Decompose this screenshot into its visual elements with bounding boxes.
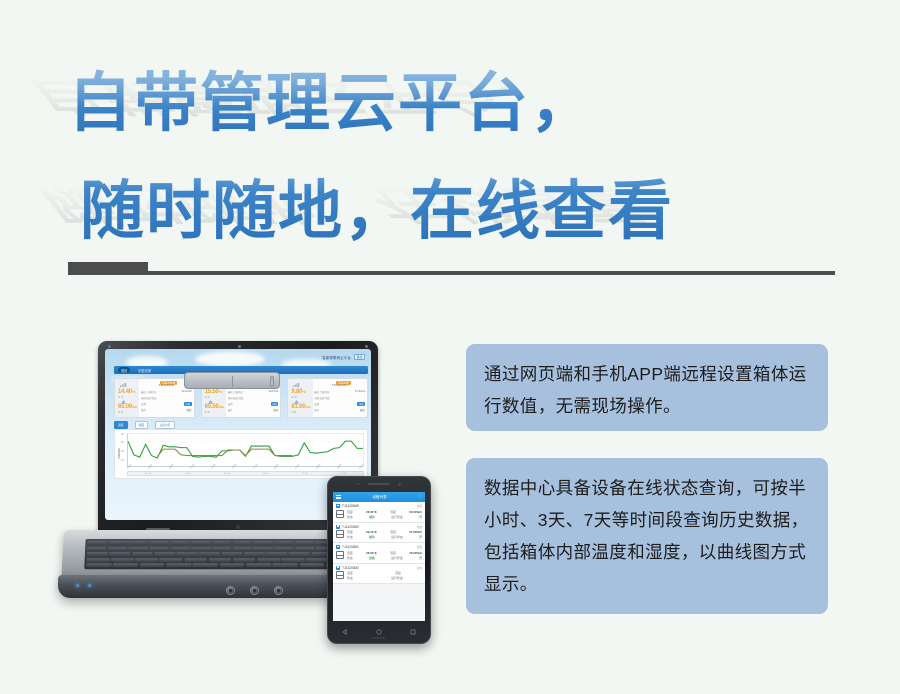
keyboard-key[interactable] [289,552,310,556]
keyboard-key[interactable] [222,552,243,556]
keyboard-key[interactable] [193,563,218,567]
cabinet-icon [336,510,344,518]
device-status: 在线 [417,566,422,570]
lid-screw-left [108,345,111,348]
more-icon[interactable]: ⋮ [418,495,422,499]
mic-port [250,586,259,595]
hum-label: 湿度 [390,530,396,534]
card-temp-subrow: ☑ ℃ [291,396,297,399]
range-selector[interactable]: 最近3天 [155,421,175,429]
chart-y-axis-label: 温度/湿度 [116,448,120,458]
keyboard-key[interactable] [274,541,293,545]
laptop-touchpad[interactable] [184,372,280,389]
card-kv-row: 当前温度/湿度 [314,396,365,400]
app-title: 设备列表 [341,495,418,500]
phone-brand-label: HUAWEI [328,636,430,640]
keyboard-key[interactable] [170,546,189,550]
keyboard-key[interactable] [109,552,130,556]
state-value: 制冷 [369,535,375,539]
keyboard-key[interactable] [113,563,138,567]
device-id: TJ14203M1 [342,545,415,549]
temp-value: 26.00℃ [366,551,377,555]
signal-bars-icon [293,383,300,387]
hum-unit: %rh [305,405,310,409]
value-row: 温度26.00℃湿度79.00%rh [347,551,422,555]
y-tick: 30 [121,441,124,444]
keyboard-key[interactable] [219,563,244,567]
headline-block: 自带管理云平台， 自带管理云平台， 随时随地，在线查看 随时随地，在线查看 [0,0,900,250]
nav-tab-home[interactable]: 首页 [118,367,130,373]
action-value: 开 [419,515,422,519]
action-label: 运行状态 [391,535,403,539]
state-value: 制冷 [369,515,375,519]
temp-unit: ℃ [132,390,135,394]
value-row: 状态制冷运行状态开 [347,535,422,539]
temp-number: 14.40 [118,389,132,395]
keyboard-key[interactable] [108,541,127,545]
detail-button[interactable]: 详情 [271,402,279,406]
hum-number: 65.00 [118,404,132,410]
keyboard-key[interactable] [160,558,183,562]
signal-bars-icon [120,383,127,387]
kv-key: 操作 [228,408,233,412]
chart-plot-area [127,433,364,467]
action-value: 开 [419,535,422,539]
kv-key: 设置 [228,402,233,406]
cabinet-icon [336,551,344,559]
keyboard-key[interactable] [244,552,265,556]
earpiece-speaker [368,483,390,486]
keyboard-key[interactable] [154,552,175,556]
value-row: 状态运行状态 [347,576,422,580]
lid-screw-right [365,345,368,348]
recents-icon[interactable] [410,629,416,635]
kv-key: 操作 [141,408,146,412]
kv-key: 最近上报时间 [314,390,329,394]
keyboard-key[interactable] [274,546,293,550]
card-kv-row: 最近上报时间20/Jul/26 [141,390,192,394]
keyboard-key[interactable] [149,546,168,550]
filter-temperature[interactable]: 温度 [114,421,128,429]
keyboard-key[interactable] [191,546,210,550]
nav-tab-history[interactable]: 历史记录 [135,367,154,373]
keyboard-key[interactable] [199,552,220,556]
site-title: 智能物联网云平台 [322,355,351,360]
kv-key: 当前温度/湿度 [314,396,330,400]
card-temperature: 14.40℃ [118,389,135,395]
device-card[interactable]: 设备在线 9.80℃ ☑ ℃ 81.00%rh ☑ % TJ1420JAH 最近… [287,378,368,418]
keyboard-key[interactable] [132,552,153,556]
list-item[interactable]: TJ14203M0在线温度29.10℃湿度57.00%rh状态制冷运行状态开 [333,523,425,544]
kv-value: 02/27/24 [269,390,279,394]
keyboard-key[interactable] [86,563,111,567]
phone-screen: 设备列表 ⋮ TJ14203M9在线温度26.00℃湿度52.00%rh状态制冷… [333,492,425,621]
info-box-remote-setting: 通过网页端和手机APP端远程设置箱体运行数值，无需现场操作。 [466,344,828,431]
keyboard-key[interactable] [87,552,108,556]
temp-label: 温度 [347,551,353,555]
card-temperature: 9.80℃ [291,389,305,395]
keyboard-key[interactable] [233,546,252,550]
activity-led [88,584,91,587]
device-flag-icon [336,525,340,529]
delete-button[interactable]: 删除 [187,408,192,412]
keyboard-key[interactable] [129,546,148,550]
temp-value: 26.00℃ [366,510,377,514]
temp-number: 15.50 [205,389,219,395]
divider [0,262,900,282]
keyboard-key[interactable] [177,552,198,556]
card-kv-row: 设置详情 [314,402,365,406]
kv-key: 操作 [314,408,319,412]
keyboard-key[interactable] [281,558,304,562]
hum-unit: %rh [132,405,137,409]
kv-key: 设置 [141,402,146,406]
y-tick: 10 [121,459,124,462]
site-header: 智能物联网云平台 退出 [105,349,371,365]
hum-number: 81.00 [291,404,305,410]
card-right-column: TJ1420JAH 最近上报时间27/Jul/14 当前温度/湿度 设置详情 操… [314,383,365,414]
card-kv-row: 操作删除 [314,408,365,412]
phone-illustration: 设备列表 ⋮ TJ14203M9在线温度26.00℃湿度52.00%rh状态制冷… [327,476,431,644]
action-label: 运行状态 [391,515,403,519]
card-humidity: 65.00%rh [118,404,137,410]
keyboard-key[interactable] [191,541,210,545]
logout-button[interactable]: 退出 [354,354,365,360]
kv-key: 设置 [314,402,319,406]
keyboard-key[interactable] [87,558,110,562]
y-tick: 20 [121,450,124,453]
chart-scroll-label: 5 Jul [185,473,190,475]
keyboard-key[interactable] [266,552,287,556]
y-tick: 40 [121,433,124,436]
keyboard-key[interactable] [184,558,207,562]
card-temp-subrow: ☑ ℃ [118,396,124,399]
keyboard-key[interactable] [140,563,165,567]
keyboard-key[interactable] [253,541,272,545]
hum-value: 79.00%rh [409,551,422,555]
value-row: 温度湿度 [347,571,422,575]
app-title-bar: 设备列表 ⋮ [333,492,425,502]
keyboard-key[interactable] [87,541,106,545]
keyboard-key[interactable] [273,563,298,567]
keyboard-key[interactable] [212,546,231,550]
hum-label: 湿度 [395,571,401,575]
headline-line2-text: 随时随地，在线查看 [80,160,674,252]
home-icon[interactable] [376,629,382,635]
device-list: TJ14203M9在线温度26.00℃湿度52.00%rh状态制冷运行状态开TJ… [333,502,425,584]
keyboard-key[interactable] [212,541,231,545]
kv-key: 当前温度/湿度 [228,396,244,400]
keyboard-key[interactable] [166,563,191,567]
keyboard-key[interactable] [150,541,169,545]
list-item[interactable]: TJ14203M2在线温度湿度状态运行状态 [333,564,425,585]
keyboard-key[interactable] [129,541,148,545]
chart-series-湿度 [157,449,292,456]
value-row: 状态加热运行状态开 [347,556,422,560]
keyboard-key[interactable] [295,546,314,550]
chart-scroll-strip[interactable]: 27 Jun5 Jul13 Jul6 Jul17 Jul9 Jul [127,471,364,476]
headline-line2: 随时随地，在线查看 [80,160,674,252]
state-value: 加热 [369,556,375,560]
keyboard-key[interactable] [170,541,189,545]
action-label: 运行状态 [391,556,403,560]
state-label: 状态 [347,515,353,519]
hum-unit: %rh [219,405,224,409]
chart-scroll-label: 27 Jun [145,473,152,475]
state-label: 状态 [347,556,353,560]
card-kv-row: 当前温度/湿度 [228,396,279,400]
state-label: 状态 [347,535,353,539]
keyboard-key[interactable] [135,558,158,562]
delete-button[interactable]: 删除 [360,408,365,412]
audio-port [226,586,235,595]
keyboard-key[interactable] [253,546,272,550]
hum-label: 湿度 [390,551,396,555]
power-led [76,584,79,587]
device-id: TJ14203M9 [342,504,415,508]
fingerprint-reader[interactable] [270,376,274,387]
kv-value: 27/Jul/14 [355,390,365,394]
touchpad-divider [232,376,233,387]
card-temperature: 15.50℃ [205,389,222,395]
keyboard-key[interactable] [208,558,231,562]
info-box-data-center: 数据中心具备设备在线状态查询，可按半小时、3天、7天等时间段查询历史数据，包括箱… [466,458,828,614]
device-status: 在线 [417,525,422,529]
history-chart-panel: 温度/湿度 40 30 20 10 03:0006:0009:0012:0015… [114,429,368,479]
device-flag-icon [336,504,340,508]
device-flag-icon [336,545,340,549]
card-hum-subrow: ☑ % [291,411,296,414]
card-device-name: TJ1420JAH [314,383,365,387]
keyboard-key[interactable] [108,546,127,550]
lid-indicator-dot [236,525,240,529]
back-icon[interactable] [342,629,348,635]
front-camera-icon [398,483,401,486]
cabinet-icon [336,530,344,538]
temp-number: 9.80 [291,389,302,395]
hum-label: 湿度 [390,510,396,514]
card-humidity: 81.00%rh [291,404,310,410]
chart-filter-row: 温度 湿度 最近3天 [114,421,175,429]
action-value: 开 [419,556,422,560]
headline-line1: 自带管理云平台， [68,52,596,144]
state-label: 状态 [347,576,353,580]
cabinet-icon [336,571,344,579]
kv-key: 最近上报时间 [141,390,156,394]
device-card[interactable]: 设备不在线 14.40℃ ☑ ℃ 65.00%rh ☑ % TJ1420JAG … [114,378,195,418]
detail-button[interactable]: 详情 [357,402,365,406]
keyboard-key[interactable] [233,558,256,562]
hum-number: 65.00 [205,404,219,410]
card-kv-row: 当前温度/湿度 [141,396,192,400]
hum-value: 52.00%rh [409,510,422,514]
temp-value: 29.10℃ [366,530,377,534]
temp-unit: ℃ [302,390,305,394]
value-row: 温度29.10℃湿度57.00%rh [347,530,422,534]
delete-button[interactable]: 删除 [273,408,278,412]
device-status: 在线 [417,504,422,508]
card-kv-row: 设置详情 [141,402,192,406]
proximity-sensor-icon [357,483,359,485]
keyboard-key[interactable] [233,541,252,545]
temp-unit: ℃ [219,390,222,394]
card-kv-row: 操作删除 [228,408,279,412]
detail-button[interactable]: 详情 [184,402,192,406]
chart-scroll-label: 13 Jul [224,473,230,475]
card-temp-subrow: ☑ ℃ [205,396,211,399]
value-row: 状态制冷运行状态开 [347,515,422,519]
card-kv-row: 最近上报时间02/27/24 [228,390,279,394]
device-id: TJ14203M0 [342,525,415,529]
chart-svg [128,434,363,466]
temp-label: 温度 [347,571,353,575]
keyboard-key[interactable] [87,546,106,550]
divider-thin-line [148,271,835,275]
hum-value: 57.00%rh [409,530,422,534]
keyboard-key[interactable] [246,563,271,567]
card-humidity: 65.00%rh [205,404,224,410]
list-item[interactable]: TJ14203M1在线温度26.00℃湿度79.00%rh状态加热运行状态开 [333,543,425,564]
lid-screw-center [238,345,241,348]
temp-label: 温度 [347,530,353,534]
headline-line1-text: 自带管理云平台， [68,52,596,144]
phone-top-bar [328,477,430,491]
filter-humidity[interactable]: 湿度 [135,421,149,429]
kv-value: 20/Jul/26 [182,390,192,394]
kv-key: 最近上报时间 [228,390,243,394]
chart-scroll-label: 6 Jul [263,473,268,475]
headphone-port [274,586,283,595]
card-kv-row: 操作删除 [141,408,192,412]
keyboard-key[interactable] [306,558,329,562]
keyboard-key[interactable] [295,541,314,545]
list-item[interactable]: TJ14203M9在线温度26.00℃湿度52.00%rh状态制冷运行状态开 [333,502,425,523]
action-label: 运行状态 [391,576,403,580]
device-status: 在线 [417,545,422,549]
value-row: 温度26.00℃湿度52.00%rh [347,510,422,514]
keyboard-key[interactable] [111,558,134,562]
device-id: TJ14203M2 [342,566,415,570]
chart-x-ticks: 03:0006:0009:0012:0015:0018:0021:0000:00… [127,468,364,470]
chart-scroll-label: 9 Jul [341,473,346,475]
chart-scroll-label: 17 Jul [302,473,308,475]
card-kv-row: 最近上报时间27/Jul/14 [314,390,365,394]
temp-label: 温度 [347,510,353,514]
kv-key: 当前温度/湿度 [141,396,157,400]
keyboard-key[interactable] [257,558,280,562]
card-kv-row: 设置详情 [228,402,279,406]
card-hum-subrow: ☑ % [118,411,123,414]
card-hum-subrow: ☑ % [205,411,210,414]
divider-thick-segment [68,262,148,275]
keyboard-key[interactable] [299,563,324,567]
device-flag-icon [336,566,340,570]
